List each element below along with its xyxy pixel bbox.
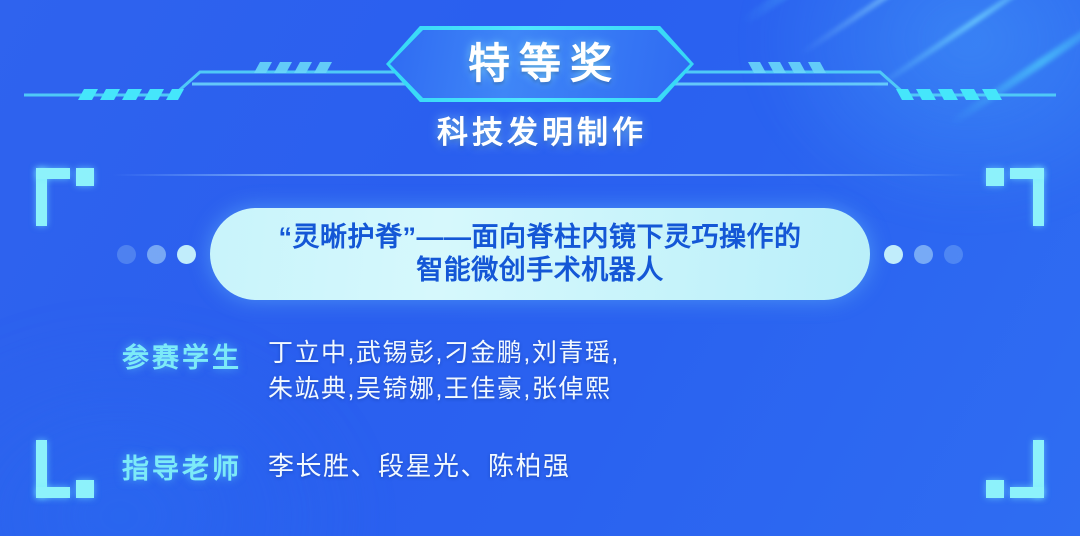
award-category-subtitle: 科技发明制作 [0, 107, 1080, 152]
corner-bracket-bottom-right [988, 440, 1044, 498]
light-streak [739, 0, 1043, 27]
decorative-dot-icon [884, 245, 903, 264]
tech-rail-left-decoration [24, 48, 424, 104]
header-divider [112, 174, 968, 176]
bracket-nub [986, 168, 1004, 186]
teachers-row: 指导老师 李长胜、段星光、陈柏强 [122, 447, 990, 486]
project-title-line-2: 智能微创手术机器人 [279, 254, 802, 287]
tech-rail-icon [24, 48, 424, 104]
decorative-dot-icon [177, 245, 196, 264]
bracket-nub [76, 480, 94, 498]
bracket-horizontal-arm [1010, 487, 1044, 498]
project-title-row: “灵晰护脊”——面向脊柱内镜下灵巧操作的 智能微创手术机器人 [0, 208, 1080, 300]
project-title-line-1: “灵晰护脊”——面向脊柱内镜下灵巧操作的 [279, 221, 802, 254]
students-names: 丁立中,武锡彭,刁金鹏,刘青瑶, 朱竑典,吴锜娜,王佳豪,张倬熙 [268, 336, 620, 407]
decorative-dot-icon [944, 245, 963, 264]
award-banner-title: 特等奖 [459, 43, 621, 85]
decorative-dot-icon [117, 245, 136, 264]
bracket-horizontal-arm [36, 487, 70, 498]
teachers-label: 指导老师 [122, 447, 242, 486]
tech-rail-icon [656, 48, 1056, 104]
banner-hexagon-fill: 特等奖 [390, 30, 690, 98]
students-label: 参赛学生 [122, 336, 242, 375]
bracket-horizontal-arm [1010, 168, 1044, 179]
corner-bracket-bottom-left [36, 440, 92, 498]
decorative-dot-icon [147, 245, 166, 264]
light-streak [871, 0, 1080, 93]
teachers-names: 李长胜、段星光、陈柏强 [268, 448, 571, 485]
decorative-dot-icon [914, 245, 933, 264]
project-title-pill: “灵晰护脊”——面向脊柱内镜下灵巧操作的 智能微创手术机器人 [210, 208, 870, 300]
bracket-nub [76, 168, 94, 186]
dots-right-decoration [884, 245, 963, 264]
tech-rail-right-decoration [656, 48, 1056, 104]
bracket-horizontal-arm [36, 168, 70, 179]
award-banner: 特等奖 [386, 26, 694, 102]
students-names-line-2: 朱竑典,吴锜娜,王佳豪,张倬熙 [268, 372, 620, 408]
students-row: 参赛学生 丁立中,武锡彭,刁金鹏,刘青瑶, 朱竑典,吴锜娜,王佳豪,张倬熙 [122, 336, 990, 407]
dots-left-decoration [117, 245, 196, 264]
award-poster: 特等奖 科技发明制作 “灵晰护脊”——面向脊柱内镜下灵巧操作的 [0, 0, 1080, 536]
students-names-line-1: 丁立中,武锡彭,刁金鹏,刘青瑶, [268, 336, 620, 372]
project-title-text: “灵晰护脊”——面向脊柱内镜下灵巧操作的 智能微创手术机器人 [279, 221, 802, 287]
light-streak [799, 0, 1075, 57]
